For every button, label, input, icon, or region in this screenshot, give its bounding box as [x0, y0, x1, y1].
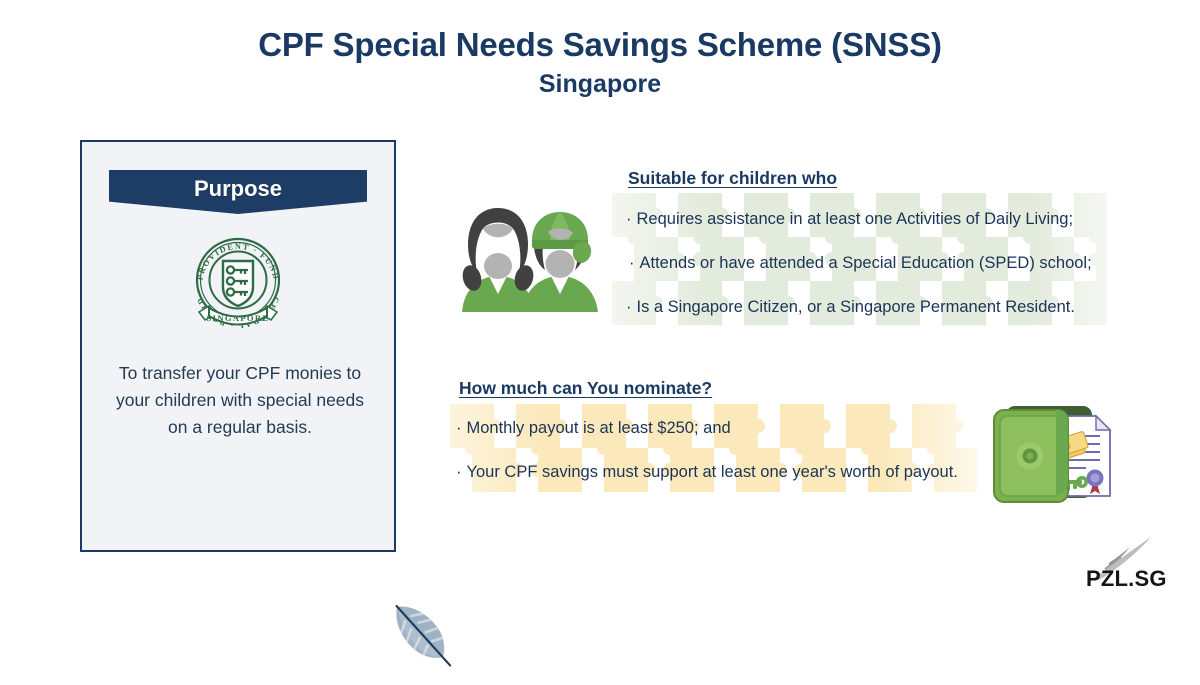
section-suitable: Suitable for children who: [628, 168, 837, 189]
children-icon: [450, 196, 605, 323]
bullet-marker: ·: [456, 462, 462, 483]
bullet-marker: ·: [456, 418, 462, 439]
safe-vault-icon: $: [978, 392, 1128, 517]
section-heading-suitable: Suitable for children who: [628, 168, 837, 189]
bullet-text: Requires assistance in at least one Acti…: [637, 210, 1074, 228]
purpose-body-text: To transfer your CPF monies to your chil…: [108, 360, 372, 441]
bullet-marker: ·: [626, 209, 632, 230]
bullet-text: Monthly payout is at least $250; and: [467, 419, 731, 437]
purpose-banner: Purpose: [109, 170, 367, 214]
bullet-item: ·Requires assistance in at least one Act…: [626, 209, 1073, 230]
bullet-item: ·Attends or have attended a Special Educ…: [629, 253, 1092, 274]
title-block: CPF Special Needs Savings Scheme (SNSS) …: [0, 26, 1200, 99]
svg-text:SINGAPORE: SINGAPORE: [207, 313, 270, 323]
bullet-marker: ·: [629, 253, 635, 274]
infographic-root: CPF Special Needs Savings Scheme (SNSS) …: [0, 0, 1200, 628]
brand-name: PZL.SG: [1086, 566, 1167, 592]
bullet-marker: ·: [626, 297, 632, 318]
purpose-banner-label: Purpose: [194, 176, 282, 202]
section-nominate: How much can You nominate?: [459, 378, 712, 399]
brand-watermark: PZL.SG: [1075, 533, 1185, 595]
bullet-text: Your CPF savings must support at least o…: [467, 463, 958, 481]
bullet-text: Is a Singapore Citizen, or a Singapore P…: [637, 298, 1075, 316]
cpf-logo: · PROVIDENT · FUND · · CENTRAL · BOARD ·: [185, 230, 291, 341]
bullet-text: Attends or have attended a Special Educa…: [640, 254, 1092, 272]
page-subtitle: Singapore: [0, 70, 1200, 100]
bullet-item: ·Is a Singapore Citizen, or a Singapore …: [626, 297, 1075, 318]
section-heading-nominate: How much can You nominate?: [459, 378, 712, 399]
bullet-item: ·Monthly payout is at least $250; and: [456, 418, 731, 439]
bullet-item: ·Your CPF savings must support at least …: [456, 462, 958, 483]
page-title: CPF Special Needs Savings Scheme (SNSS): [0, 26, 1200, 65]
purpose-card: Purpose · PROVIDENT · FUND · · CENTRAL: [80, 140, 396, 552]
feather-icon: [372, 584, 468, 685]
